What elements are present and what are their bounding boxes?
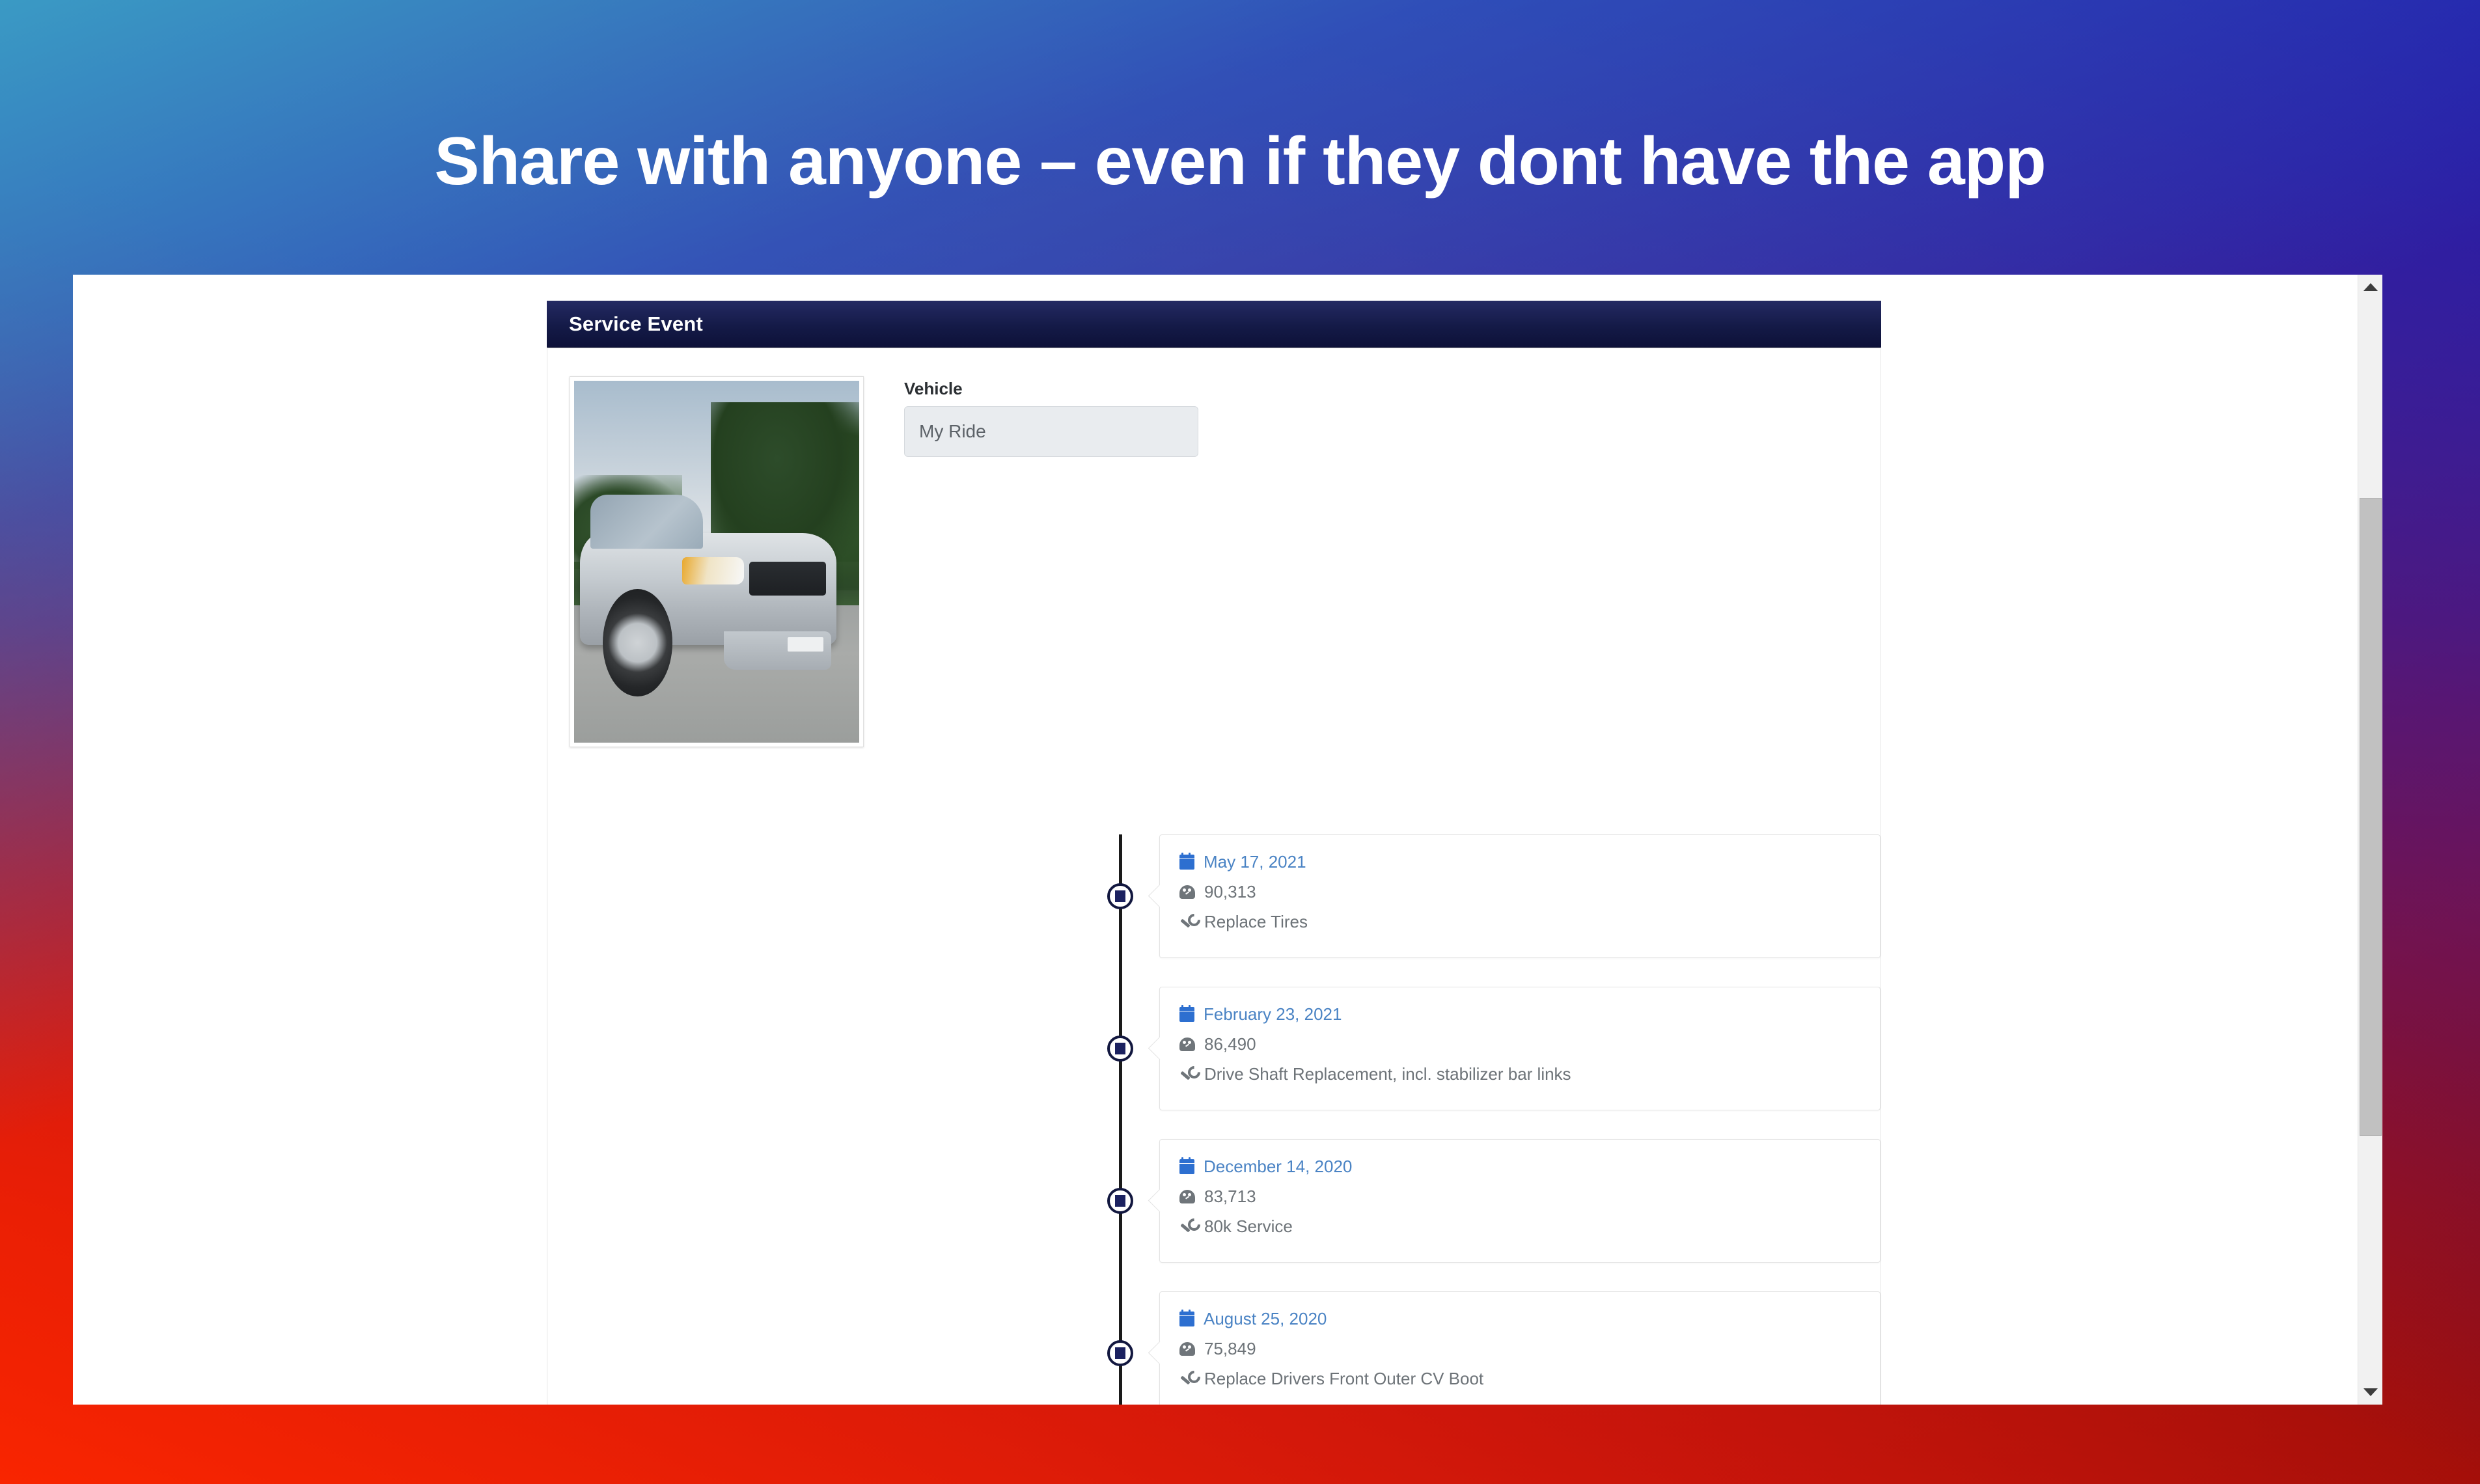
- app-body: Vehicle My Ride May 17, 2021: [547, 348, 1881, 1405]
- event-description-row: Replace Tires: [1179, 912, 1860, 932]
- browser-preview-panel: Service Event: [73, 275, 2382, 1405]
- timeline-item[interactable]: May 17, 2021 90,313 Replace Tires: [547, 834, 1881, 958]
- app-title: Service Event: [569, 312, 703, 336]
- event-odometer-row: 83,713: [1179, 1187, 1860, 1207]
- scroll-up-arrow-icon: [2363, 283, 2378, 291]
- service-event-card[interactable]: December 14, 2020 83,713 80k Service: [1159, 1139, 1881, 1263]
- scroll-down-arrow-icon: [2363, 1388, 2378, 1396]
- event-date-row: August 25, 2020: [1179, 1309, 1860, 1329]
- event-odometer-row: 86,490: [1179, 1034, 1860, 1054]
- timeline-marker-icon: [1107, 1188, 1133, 1214]
- event-odometer: 75,849: [1204, 1339, 1256, 1359]
- wrench-icon: [1179, 914, 1195, 930]
- event-date: August 25, 2020: [1204, 1309, 1327, 1329]
- photo-car-headlight: [682, 557, 744, 584]
- event-description-row: 80k Service: [1179, 1216, 1860, 1237]
- event-date: December 14, 2020: [1204, 1157, 1352, 1177]
- wrench-icon: [1179, 1067, 1195, 1082]
- service-history-timeline: May 17, 2021 90,313 Replace Tires: [547, 834, 1881, 1405]
- timeline-marker-icon: [1107, 1340, 1133, 1366]
- calendar-icon: [1179, 1007, 1194, 1022]
- timeline-marker-icon: [1107, 883, 1133, 909]
- event-description-row: Drive Shaft Replacement, incl. stabilize…: [1179, 1064, 1860, 1084]
- vehicle-photo-frame: [570, 376, 864, 747]
- event-description: 80k Service: [1204, 1216, 1293, 1237]
- event-description: Replace Tires: [1204, 912, 1308, 932]
- odometer-gauge-icon: [1179, 1190, 1195, 1203]
- photo-car-wheel: [603, 589, 672, 696]
- scrollbar-thumb[interactable]: [2360, 498, 2382, 1136]
- event-date-row: May 17, 2021: [1179, 852, 1860, 872]
- event-date-row: December 14, 2020: [1179, 1157, 1860, 1177]
- event-odometer: 86,490: [1204, 1034, 1256, 1054]
- vehicle-field-group: Vehicle My Ride: [904, 376, 1198, 747]
- event-date: May 17, 2021: [1204, 852, 1306, 872]
- photo-car-body: [580, 533, 836, 645]
- event-date-row: February 23, 2021: [1179, 1004, 1860, 1024]
- service-event-card[interactable]: May 17, 2021 90,313 Replace Tires: [1159, 834, 1881, 958]
- timeline-item[interactable]: December 14, 2020 83,713 80k Service: [547, 1139, 1881, 1263]
- wrench-icon: [1179, 1219, 1195, 1235]
- event-odometer: 83,713: [1204, 1187, 1256, 1207]
- event-odometer-row: 75,849: [1179, 1339, 1860, 1359]
- vertical-scrollbar[interactable]: [2358, 275, 2382, 1405]
- vehicle-section: Vehicle My Ride: [547, 376, 1881, 747]
- presentation-slide: Share with anyone – even if they dont ha…: [0, 0, 2480, 1484]
- timeline-marker-icon: [1107, 1036, 1133, 1062]
- photo-car-grille: [749, 562, 826, 596]
- service-event-card[interactable]: February 23, 2021 86,490 Drive Shaft Rep…: [1159, 987, 1881, 1110]
- scroll-up-button[interactable]: [2358, 275, 2382, 299]
- timeline-item[interactable]: August 25, 2020 75,849 Replace Drivers F…: [547, 1291, 1881, 1405]
- photo-car-windshield: [590, 495, 703, 549]
- odometer-gauge-icon: [1179, 885, 1195, 899]
- vehicle-field-label: Vehicle: [904, 379, 1198, 399]
- event-date: February 23, 2021: [1204, 1004, 1342, 1024]
- photo-car-license-plate: [788, 637, 823, 652]
- vehicle-input[interactable]: My Ride: [904, 406, 1198, 457]
- wrench-icon: [1179, 1371, 1195, 1387]
- event-description-row: Replace Drivers Front Outer CV Boot: [1179, 1369, 1860, 1389]
- event-odometer-row: 90,313: [1179, 882, 1860, 902]
- vehicle-photo: [574, 381, 859, 743]
- service-event-app: Service Event: [547, 301, 1881, 1405]
- odometer-gauge-icon: [1179, 1037, 1195, 1051]
- app-header-bar: Service Event: [547, 301, 1881, 348]
- calendar-icon: [1179, 1159, 1194, 1174]
- event-description: Replace Drivers Front Outer CV Boot: [1204, 1369, 1483, 1389]
- event-description: Drive Shaft Replacement, incl. stabilize…: [1204, 1064, 1571, 1084]
- event-odometer: 90,313: [1204, 882, 1256, 902]
- scroll-down-button[interactable]: [2358, 1380, 2382, 1405]
- calendar-icon: [1179, 1312, 1194, 1326]
- odometer-gauge-icon: [1179, 1342, 1195, 1356]
- timeline-item[interactable]: February 23, 2021 86,490 Drive Shaft Rep…: [547, 987, 1881, 1110]
- slide-headline: Share with anyone – even if they dont ha…: [0, 128, 2480, 195]
- calendar-icon: [1179, 855, 1194, 870]
- service-event-card[interactable]: August 25, 2020 75,849 Replace Drivers F…: [1159, 1291, 1881, 1405]
